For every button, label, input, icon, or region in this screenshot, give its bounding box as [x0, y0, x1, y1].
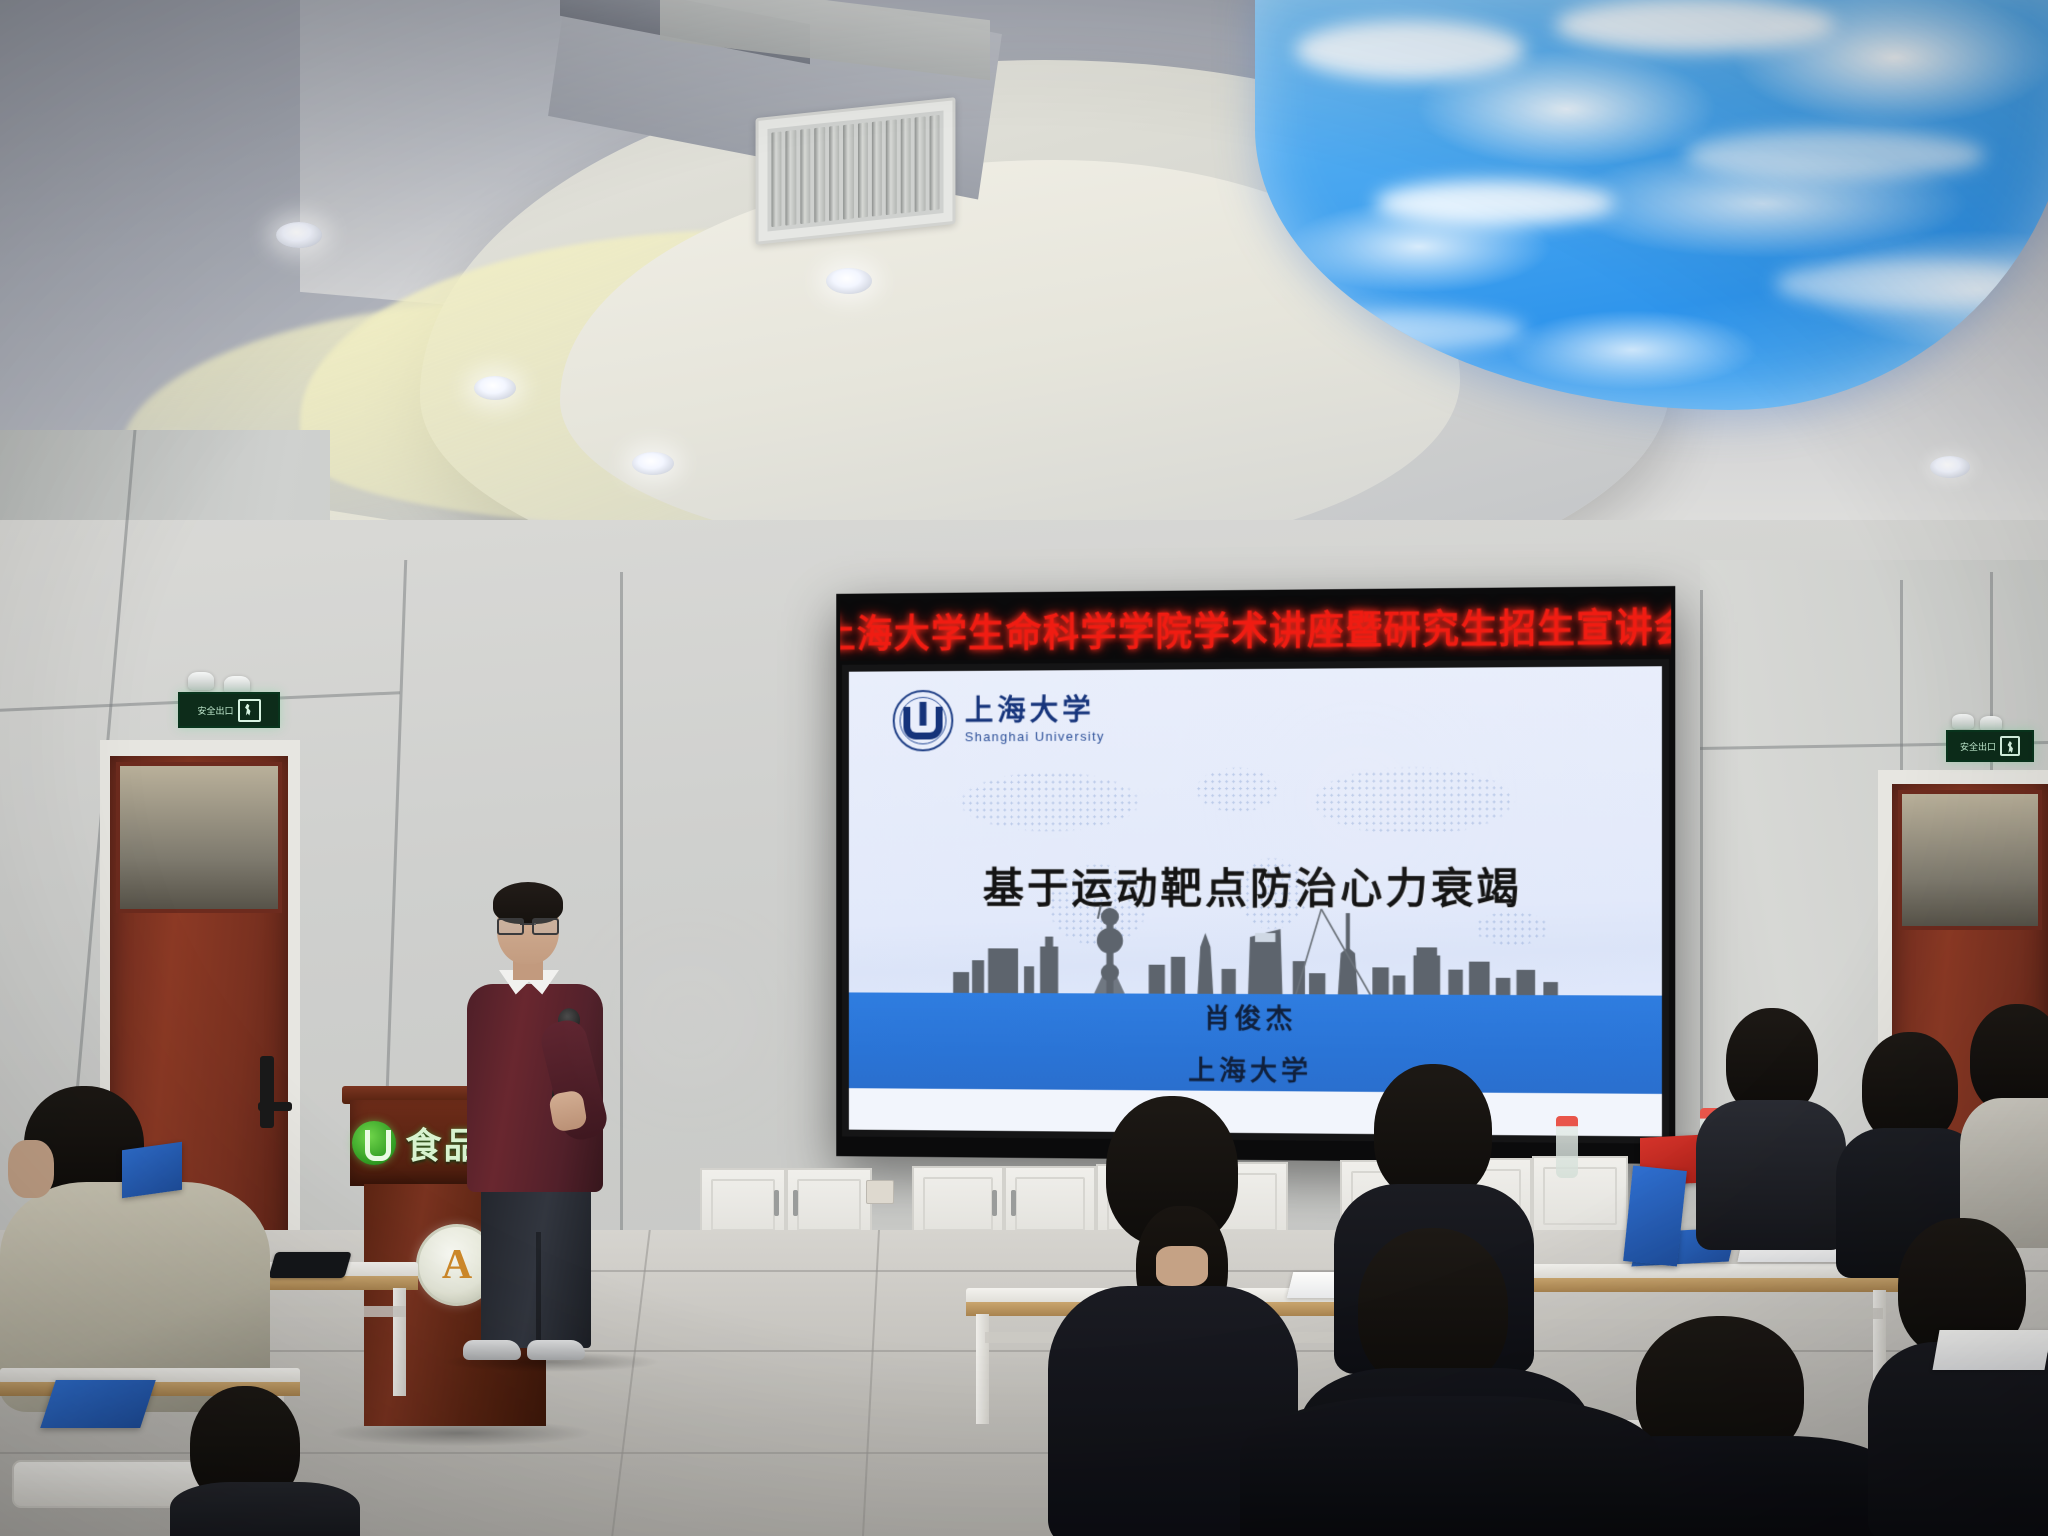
exit-sign-right: 安全出口 [1946, 730, 2034, 762]
slide-presenter-name: 肖俊杰 [1204, 997, 1297, 1036]
downlight [276, 222, 322, 248]
shanghai-university-seal-icon [892, 689, 953, 751]
downlight [1930, 456, 1970, 478]
slide-presenter-affiliation: 上海大学 [1188, 1049, 1312, 1089]
smartphone[interactable] [268, 1252, 351, 1278]
green-leaf-logo-icon [352, 1121, 396, 1165]
wall-cabinet[interactable] [1532, 1156, 1628, 1236]
program-booklet[interactable] [122, 1142, 182, 1198]
downlight [632, 452, 674, 475]
university-logo: 上海大学 Shanghai University [892, 688, 1104, 751]
program-booklet[interactable] [40, 1380, 156, 1428]
running-person-exit-icon [238, 699, 261, 722]
shanghai-skyline-graphic [849, 903, 1662, 1000]
downlight [474, 376, 516, 400]
ceiling-air-vent [756, 97, 956, 245]
led-banner-text: 上海大学生命科学学院学术讲座暨研究生招生宣讲会 [840, 595, 1671, 659]
attendee [1696, 1008, 1846, 1238]
emergency-lamp [1980, 716, 2002, 731]
exit-sign-label-left: 安全出口 [197, 704, 233, 717]
screen-bezel: 上海大学 Shanghai University 基于运动靶点防治心力衰竭 [842, 659, 1669, 1144]
university-name-en: Shanghai University [965, 730, 1105, 744]
downlight [826, 268, 872, 294]
emergency-lamp [188, 672, 214, 690]
speaker-legs [481, 1180, 591, 1348]
speaker-shoe [463, 1340, 521, 1360]
speaker-glasses [497, 918, 559, 932]
lecture-hall-photo: 上海大学生命科学学院学术讲座暨研究生招生宣讲会 上海大学 Shanghai Un… [0, 0, 2048, 1536]
door-transom-left [116, 762, 282, 913]
attendee [1240, 1396, 1660, 1536]
water-bottle[interactable] [1556, 1116, 1578, 1178]
wall-outlet[interactable] [866, 1180, 894, 1204]
attendee [1868, 1218, 2048, 1536]
presentation-screen-assembly: 上海大学生命科学学院学术讲座暨研究生招生宣讲会 上海大学 Shanghai Un… [836, 586, 1675, 1164]
exit-sign-left: 安全出口 [178, 692, 280, 728]
university-name-cn: 上海大学 [965, 696, 1105, 726]
emergency-lamp [1952, 714, 1974, 729]
speaker-presenter [455, 880, 625, 1360]
led-scrolling-banner: 上海大学生命科学学院学术讲座暨研究生招生宣讲会 [840, 592, 1671, 661]
attendee [0, 1086, 270, 1416]
attendee [170, 1386, 350, 1536]
speaker-shoe [527, 1340, 585, 1360]
door-transom-right [1898, 790, 2042, 930]
running-person-exit-icon [2000, 736, 2020, 756]
projected-slide: 上海大学 Shanghai University 基于运动靶点防治心力衰竭 [849, 666, 1662, 1136]
handout-paper[interactable] [1932, 1330, 2048, 1370]
attendee [1960, 1004, 2048, 1234]
slide-presenter-band: 肖俊杰 上海大学 [849, 992, 1662, 1094]
program-booklet[interactable] [1623, 1165, 1687, 1266]
exit-sign-label-right: 安全出口 [1960, 740, 1996, 753]
